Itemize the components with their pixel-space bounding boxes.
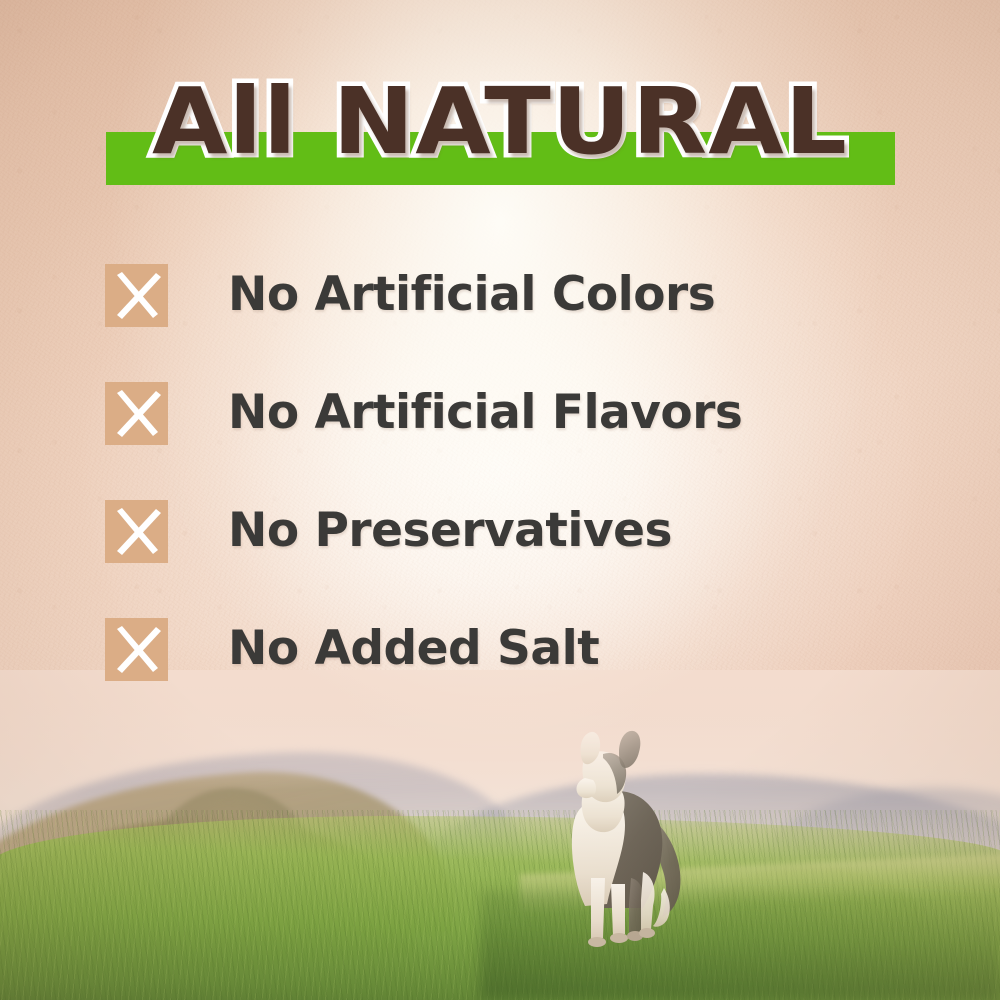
x-mark-icon (105, 264, 168, 327)
all-natural-poster: All NATURAL No Artificial Colors No Arti… (0, 0, 1000, 1000)
list-item-label: No Added Salt (228, 621, 599, 677)
claims-checklist: No Artificial Colors No Artificial Flavo… (105, 263, 925, 735)
x-mark-icon (105, 618, 168, 681)
list-item-label: No Artificial Flavors (228, 385, 742, 441)
list-item: No Preservatives (105, 499, 925, 563)
x-mark-icon (105, 500, 168, 563)
list-item: No Artificial Colors (105, 263, 925, 327)
page-title: All NATURAL (0, 74, 1000, 170)
list-item-label: No Preservatives (228, 503, 672, 559)
border-collie-dog (531, 728, 696, 958)
list-item: No Artificial Flavors (105, 381, 925, 445)
list-item: No Added Salt (105, 617, 925, 681)
list-item-label: No Artificial Colors (228, 267, 715, 323)
x-mark-icon (105, 382, 168, 445)
